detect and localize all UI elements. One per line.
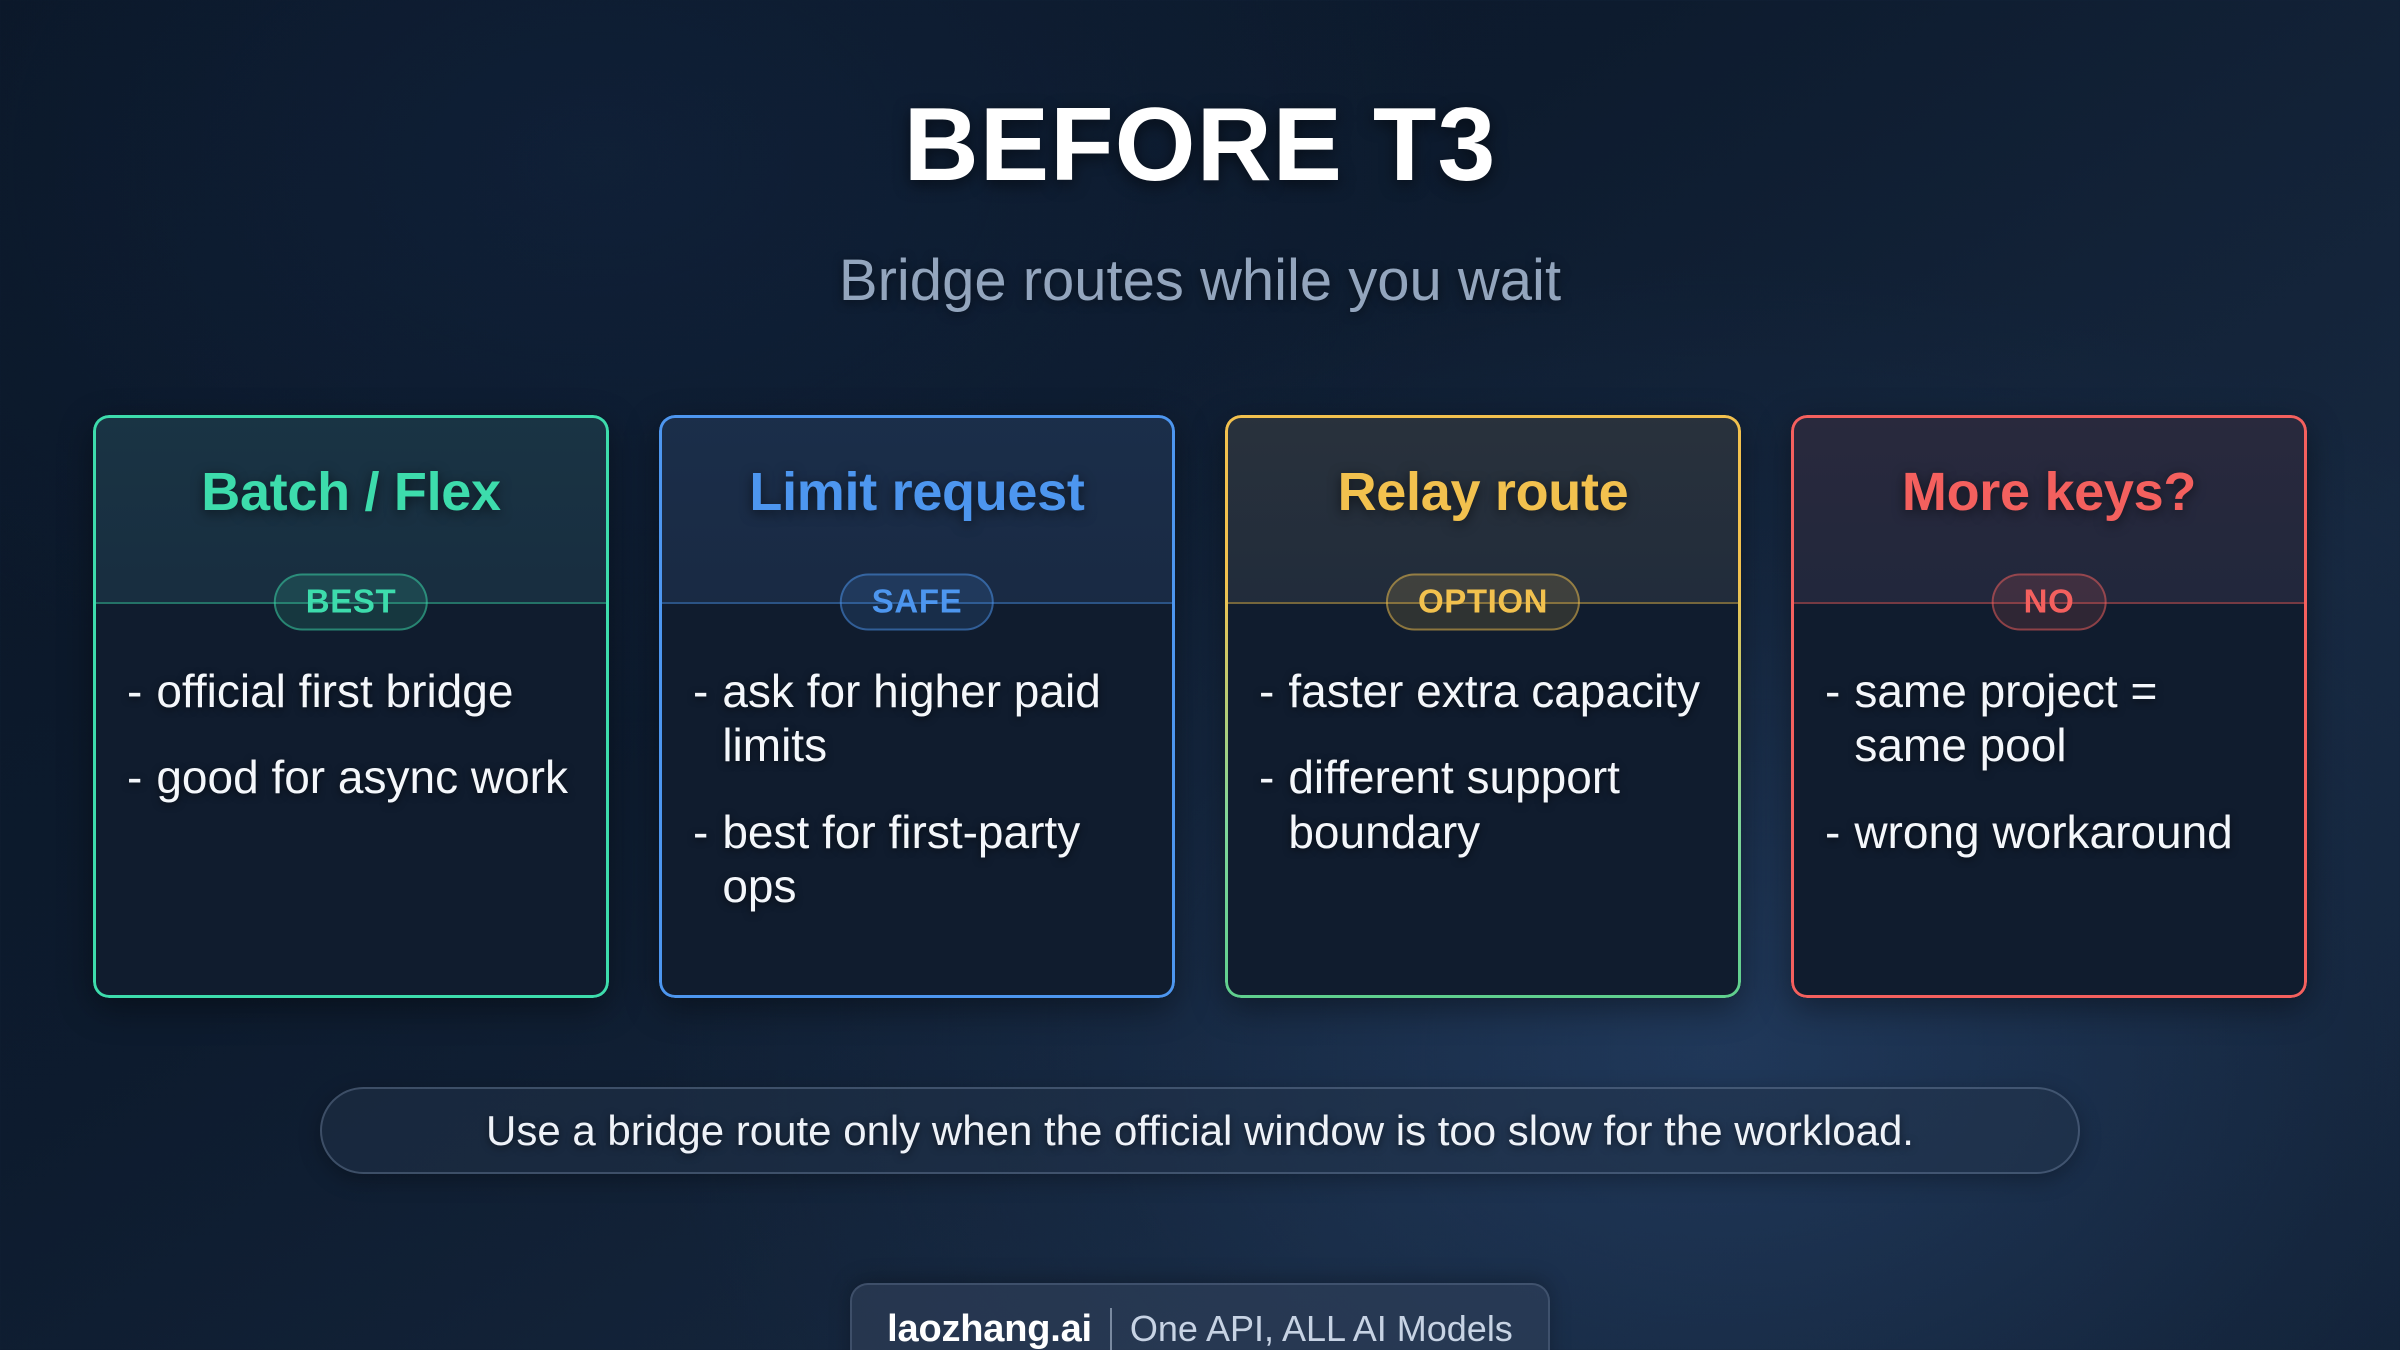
- footer-note-text: Use a bridge route only when the officia…: [486, 1107, 1914, 1155]
- card-body: -faster extra capacity-different support…: [1225, 602, 1741, 998]
- status-badge: BEST: [274, 574, 428, 631]
- card-title: Limit request: [749, 461, 1084, 523]
- card-title: Relay route: [1338, 461, 1629, 523]
- option-card[interactable]: Relay routeOPTION-faster extra capacity-…: [1225, 415, 1741, 998]
- bullet-dash-icon: -: [693, 805, 708, 914]
- status-badge: OPTION: [1386, 574, 1580, 631]
- bullet-dash-icon: -: [693, 664, 708, 773]
- brand-separator: [1110, 1308, 1112, 1350]
- card-body: -ask for higher paid limits-best for fir…: [659, 602, 1175, 998]
- bullet-text: best for first-party ops: [722, 805, 1141, 914]
- footer-note: Use a bridge route only when the officia…: [320, 1087, 2080, 1174]
- bullet-text: faster extra capacity: [1288, 664, 1707, 718]
- bullet-text: same project = same pool: [1854, 664, 2273, 773]
- bullet-item: -wrong workaround: [1825, 805, 2273, 859]
- bullet-item: -same project = same pool: [1825, 664, 2273, 773]
- card-row: Batch / FlexBEST-official first bridge-g…: [93, 415, 2307, 998]
- bullet-dash-icon: -: [1259, 750, 1274, 859]
- bullet-dash-icon: -: [127, 750, 142, 804]
- brand-bar: laozhang.ai One API, ALL AI Models: [850, 1283, 1550, 1350]
- bullet-text: wrong workaround: [1854, 805, 2273, 859]
- bullet-dash-icon: -: [127, 664, 142, 718]
- bullet-item: -ask for higher paid limits: [693, 664, 1141, 773]
- option-card[interactable]: Batch / FlexBEST-official first bridge-g…: [93, 415, 609, 998]
- page-title: BEFORE T3: [0, 86, 2400, 205]
- brand-name: laozhang.ai: [887, 1308, 1092, 1350]
- infographic-root: BEFORE T3 Bridge routes while you wait B…: [0, 0, 2400, 1350]
- bullet-item: -good for async work: [127, 750, 575, 804]
- bullet-text: different support boundary: [1288, 750, 1707, 859]
- bullet-text: good for async work: [156, 750, 575, 804]
- card-body: -official first bridge-good for async wo…: [93, 602, 609, 998]
- card-title: Batch / Flex: [201, 461, 501, 523]
- bullet-dash-icon: -: [1825, 664, 1840, 773]
- bullet-text: official first bridge: [156, 664, 575, 718]
- bullet-item: -official first bridge: [127, 664, 575, 718]
- bullet-item: -different support boundary: [1259, 750, 1707, 859]
- status-badge: NO: [1992, 574, 2107, 631]
- option-card[interactable]: Limit requestSAFE-ask for higher paid li…: [659, 415, 1175, 998]
- page-subtitle: Bridge routes while you wait: [0, 247, 2400, 314]
- bullet-text: ask for higher paid limits: [722, 664, 1141, 773]
- option-card[interactable]: More keys?NO-same project = same pool-wr…: [1791, 415, 2307, 998]
- card-body: -same project = same pool-wrong workarou…: [1791, 602, 2307, 998]
- bullet-dash-icon: -: [1825, 805, 1840, 859]
- bullet-item: -best for first-party ops: [693, 805, 1141, 914]
- brand-tagline: One API, ALL AI Models: [1130, 1308, 1513, 1350]
- bullet-dash-icon: -: [1259, 664, 1274, 718]
- card-title: More keys?: [1902, 461, 2196, 523]
- bullet-item: -faster extra capacity: [1259, 664, 1707, 718]
- status-badge: SAFE: [840, 574, 994, 631]
